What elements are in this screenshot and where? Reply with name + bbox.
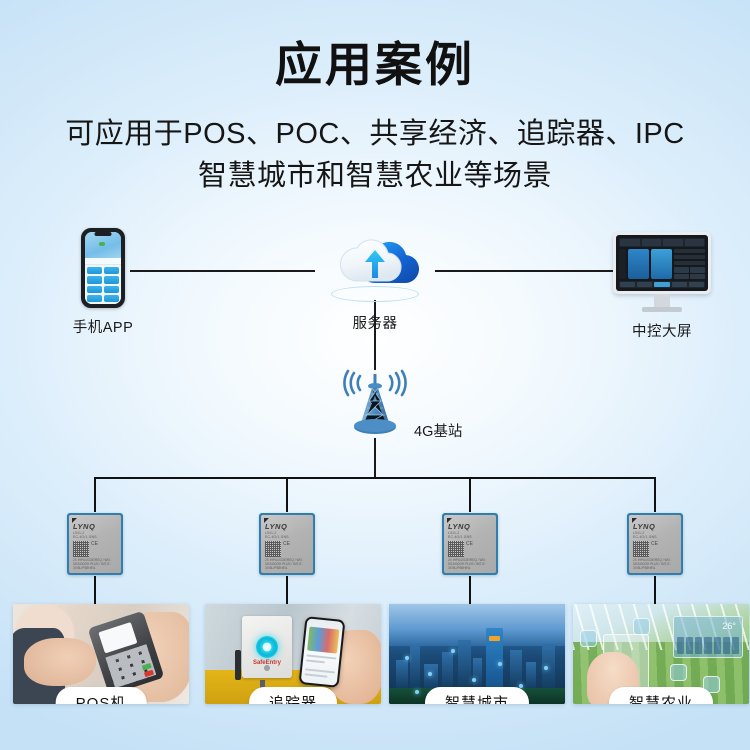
module-sub-code: EC-4G/1 GNS (633, 535, 677, 539)
lte-module-3[interactable]: LYNQ L511-2 EC-4G/1 GNS CE 2X IHPA/2G3E/… (442, 513, 498, 575)
module-sub-code: EC-4G/1 GNS (448, 535, 492, 539)
phone-screen (85, 232, 121, 304)
connector-drop-1 (94, 477, 96, 512)
monitor-bezel (613, 232, 711, 294)
module-qr-code (633, 541, 649, 557)
module-face: LYNQ L511-2 EC-4G/1 GNS CE 2X IHPA/2G3E/… (261, 515, 313, 573)
module-brand: LYNQ (265, 523, 309, 531)
dashboard-tile-left (628, 249, 649, 279)
module-qr-code (73, 541, 89, 557)
connector-module-3-to-card (469, 576, 471, 604)
module-cert-marks: CE (466, 541, 492, 547)
module-sub-code: EC-4G/1 GNS (265, 535, 309, 539)
card-label-pos: POS机 (56, 687, 147, 704)
node-label-mobile-app: 手机APP (48, 316, 158, 337)
dashboard-bottombar (619, 281, 705, 288)
module-qr-code (448, 541, 464, 557)
dashboard-sidebar (619, 249, 626, 279)
module-sub-code: EC-4G/1 GNS (73, 535, 117, 539)
card-label-smart-agriculture: 智慧农业 (609, 687, 713, 704)
application-cases-page: 应用案例 可应用于POS、POC、共享经济、追踪器、IPC 智慧城市和智慧农业等… (0, 0, 750, 750)
subtitle-line-2: 智慧城市和智慧农业等场景 (0, 155, 750, 197)
application-card-tracker[interactable]: SafeEntry 追踪器 (205, 604, 381, 704)
module-brand: LYNQ (73, 523, 117, 531)
page-subtitle: 可应用于POS、POC、共享经济、追踪器、IPC 智慧城市和智慧农业等场景 (0, 113, 750, 197)
monitor-base (642, 307, 682, 312)
dashboard-topbar (619, 238, 705, 247)
monitor-screen (616, 235, 708, 291)
module-pin1-marker (72, 518, 77, 523)
connector-bus (95, 477, 656, 479)
connector-server-to-screen (435, 270, 620, 272)
monitor-neck (654, 294, 670, 307)
module-footer-text: 2X IHPA/2G3E/REQ / WD: 5G3400/2H PLUS / … (73, 558, 117, 570)
module-face: LYNQ L511-2 EC-4G/1 GNS CE 2X IHPA/2G3E/… (629, 515, 681, 573)
module-footer-text: 2X IHPA/2G3E/REQ / WD: 5G3400/2H PLUS / … (265, 558, 309, 570)
base-station-label: 4G基站 (414, 420, 462, 441)
connector-drop-2 (286, 477, 288, 512)
cloud-shadow (331, 286, 419, 302)
module-mid-row: CE (265, 541, 309, 557)
connector-tower-to-bus (374, 438, 376, 478)
connector-module-4-to-card (654, 576, 656, 604)
connector-drop-4 (654, 477, 656, 512)
smartphone-icon (81, 228, 125, 308)
node-base-station[interactable]: 4G基站 (330, 368, 420, 438)
weather-panel-overlay: 26° (673, 616, 743, 658)
connector-module-1-to-card (94, 576, 96, 604)
module-brand: LYNQ (633, 523, 677, 531)
module-pin1-marker (447, 518, 452, 523)
module-cert-marks: CE (91, 541, 117, 547)
application-card-smart-city[interactable]: 智慧城市 (389, 604, 565, 704)
lte-module-4[interactable]: LYNQ L511-2 EC-4G/1 GNS CE 2X IHPA/2G3E/… (627, 513, 683, 575)
module-mid-row: CE (448, 541, 492, 557)
module-footer-text: 2X IHPA/2G3E/REQ / WD: 5G3400/2H PLUS / … (633, 558, 677, 570)
cell-tower-icon (330, 368, 420, 438)
node-server[interactable]: 服务器 (327, 226, 423, 333)
module-face: LYNQ L511-2 EC-4G/1 GNS CE 2X IHPA/2G3E/… (444, 515, 496, 573)
scanner-glow-ring (256, 636, 278, 658)
node-label-server: 服务器 (327, 312, 423, 333)
module-cert-marks: CE (283, 541, 309, 547)
module-footer-text: 2X IHPA/2G3E/REQ / WD: 5G3400/2H PLUS / … (448, 558, 492, 570)
application-card-smart-agriculture[interactable]: 26° 智慧农业 (573, 604, 749, 704)
node-big-screen[interactable]: 中控大屏 (607, 232, 717, 341)
monitor-icon (613, 232, 711, 312)
connector-module-2-to-card (286, 576, 288, 604)
page-title: 应用案例 (0, 40, 750, 89)
module-brand: LYNQ (448, 523, 492, 531)
module-pin1-marker (264, 518, 269, 523)
node-mobile-app[interactable]: 手机APP (48, 228, 158, 337)
module-qr-code (265, 541, 281, 557)
application-card-pos[interactable]: POS机 (13, 604, 189, 704)
lte-module-1[interactable]: LYNQ L511-2 EC-4G/1 GNS CE 2X IHPA/2G3E/… (67, 513, 123, 575)
node-label-big-screen: 中控大屏 (607, 320, 717, 341)
module-mid-row: CE (633, 541, 677, 557)
subtitle-line-1: 可应用于POS、POC、共享经济、追踪器、IPC (65, 118, 684, 150)
dashboard-side-list (674, 249, 705, 279)
weather-temperature: 26° (722, 621, 736, 631)
phone-app-grid (85, 265, 121, 304)
lte-module-2[interactable]: LYNQ L511-2 EC-4G/1 GNS CE 2X IHPA/2G3E/… (259, 513, 315, 575)
module-mid-row: CE (73, 541, 117, 557)
card-label-smart-city: 智慧城市 (425, 687, 529, 704)
dashboard-body (619, 249, 705, 279)
module-face: LYNQ L511-2 EC-4G/1 GNS CE 2X IHPA/2G3E/… (69, 515, 121, 573)
phone-notch (95, 232, 112, 236)
connector-drop-3 (469, 477, 471, 512)
dashboard-tile-right (651, 249, 672, 279)
module-pin1-marker (632, 518, 637, 523)
cloud-upload-icon (327, 226, 423, 304)
card-label-tracker: 追踪器 (249, 687, 337, 704)
phone-search-bar (85, 258, 121, 265)
module-cert-marks: CE (651, 541, 677, 547)
